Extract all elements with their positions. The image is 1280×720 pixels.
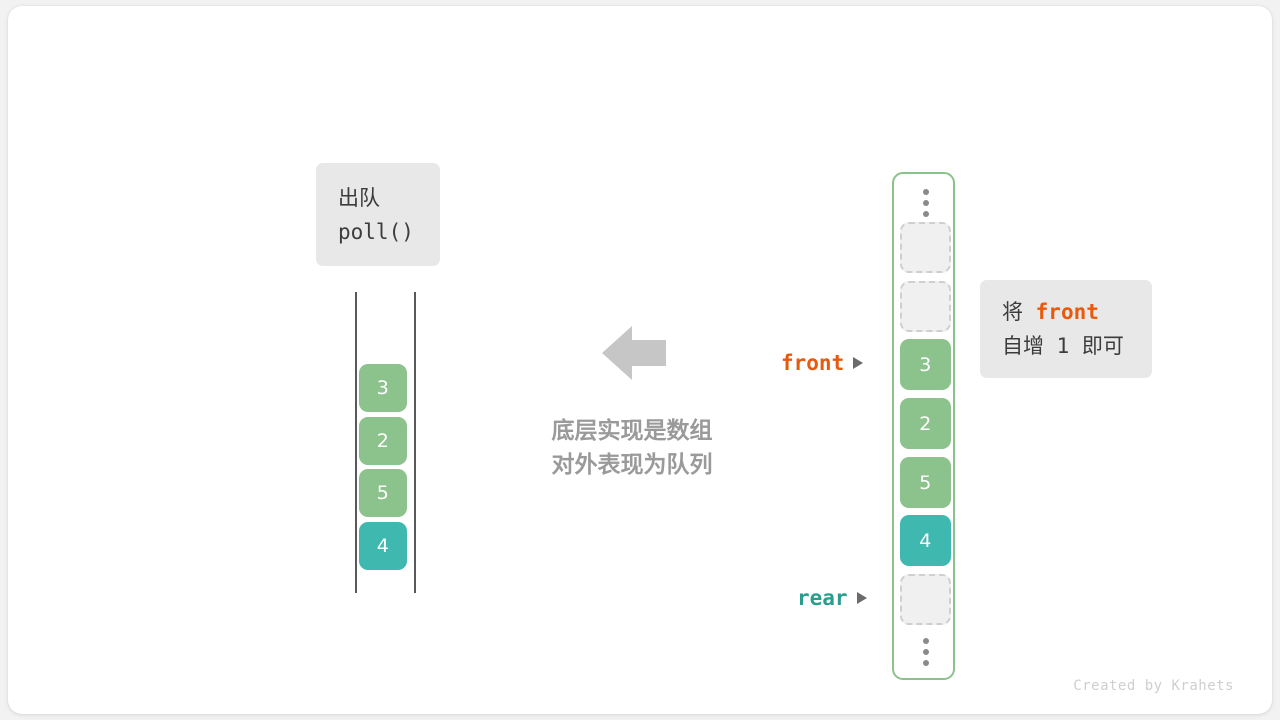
array-cell-0: [900, 222, 951, 273]
array-cell-2: 3: [900, 339, 951, 390]
diagram-card: 出队 poll() 3 2 5 4 底层实现是数组 对外表现为队列 front …: [8, 6, 1272, 714]
hint-note-highlight: front: [1036, 300, 1099, 324]
center-caption-line2: 对外表现为队列: [508, 448, 756, 482]
array-cell-3: 2: [900, 398, 951, 449]
array-bottom-ellipsis-icon: [894, 638, 957, 666]
rear-pointer-label: rear: [797, 586, 867, 610]
center-caption-line1: 底层实现是数组: [508, 414, 756, 448]
array-top-ellipsis-icon: [894, 189, 957, 217]
credit-text: Created by Krahets: [1073, 678, 1234, 694]
center-caption: 底层实现是数组 对外表现为队列: [508, 414, 756, 482]
queue-cell-0: 3: [359, 364, 407, 412]
queue-cell-1: 2: [359, 417, 407, 465]
queue-cell-2: 5: [359, 469, 407, 517]
operation-label-line1: 出队: [338, 181, 418, 215]
hint-note-line1: 将 front: [1002, 295, 1130, 329]
operation-label-line2: poll(): [338, 215, 418, 249]
diagram-canvas: 出队 poll() 3 2 5 4 底层实现是数组 对外表现为队列 front …: [0, 0, 1280, 720]
dequeue-arrow-icon: [602, 326, 666, 380]
front-pointer-text: front: [781, 351, 844, 375]
operation-label-box: 出队 poll(): [316, 163, 440, 266]
hint-note-box: 将 front 自增 1 即可: [980, 280, 1152, 378]
array-cell-4: 5: [900, 457, 951, 508]
array-container: 3 2 5 4: [892, 172, 955, 680]
hint-note-prefix: 将: [1002, 300, 1036, 324]
queue-rail-right: [414, 292, 416, 593]
queue-cell-3: 4: [359, 522, 407, 570]
array-cell-1: [900, 281, 951, 332]
array-cell-5: 4: [900, 515, 951, 566]
front-pointer-arrow-icon: [853, 357, 863, 369]
array-cell-6: [900, 574, 951, 625]
hint-note-line2: 自增 1 即可: [1002, 329, 1130, 363]
rear-pointer-text: rear: [797, 586, 848, 610]
front-pointer-label: front: [781, 351, 863, 375]
queue-rail-left: [355, 292, 357, 593]
rear-pointer-arrow-icon: [857, 592, 867, 604]
